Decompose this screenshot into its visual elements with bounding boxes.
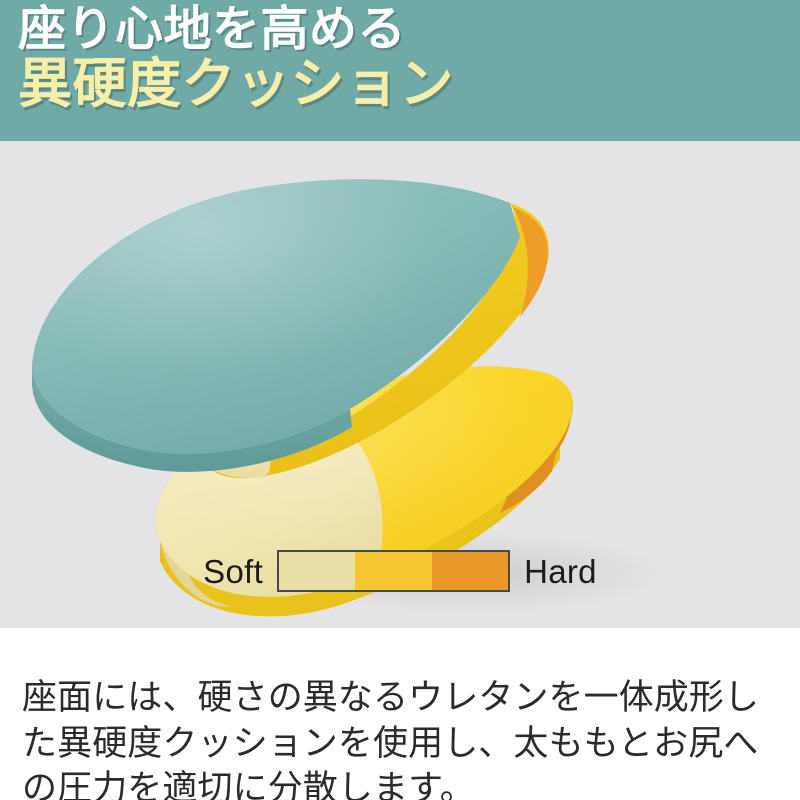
legend-soft-label: Soft (203, 555, 263, 588)
header-title-line-1: 座り心地を高める (18, 6, 800, 55)
legend-hard-label: Hard (524, 555, 597, 588)
caption-block: 座面には、硬さの異なるウレタンを一体成形した異硬度クッションを使用し、太ももとお… (0, 628, 800, 800)
cushion-illustration: Soft Hard (0, 141, 800, 628)
header-banner: 座り心地を高める 異硬度クッション (0, 0, 800, 141)
hardness-gradient-bar (277, 550, 510, 592)
caption-text: 座面には、硬さの異なるウレタンを一体成形した異硬度クッションを使用し、太ももとお… (22, 675, 780, 800)
product-feature-panel: 座り心地を高める 異硬度クッション (0, 0, 800, 800)
header-title-line-2: 異硬度クッション (18, 57, 800, 112)
legend-segment-soft (279, 552, 355, 590)
illustration-panel: Soft Hard (0, 141, 800, 628)
hardness-legend: Soft Hard (0, 541, 800, 601)
legend-segment-medium (355, 552, 431, 590)
legend-segment-hard (432, 552, 508, 590)
